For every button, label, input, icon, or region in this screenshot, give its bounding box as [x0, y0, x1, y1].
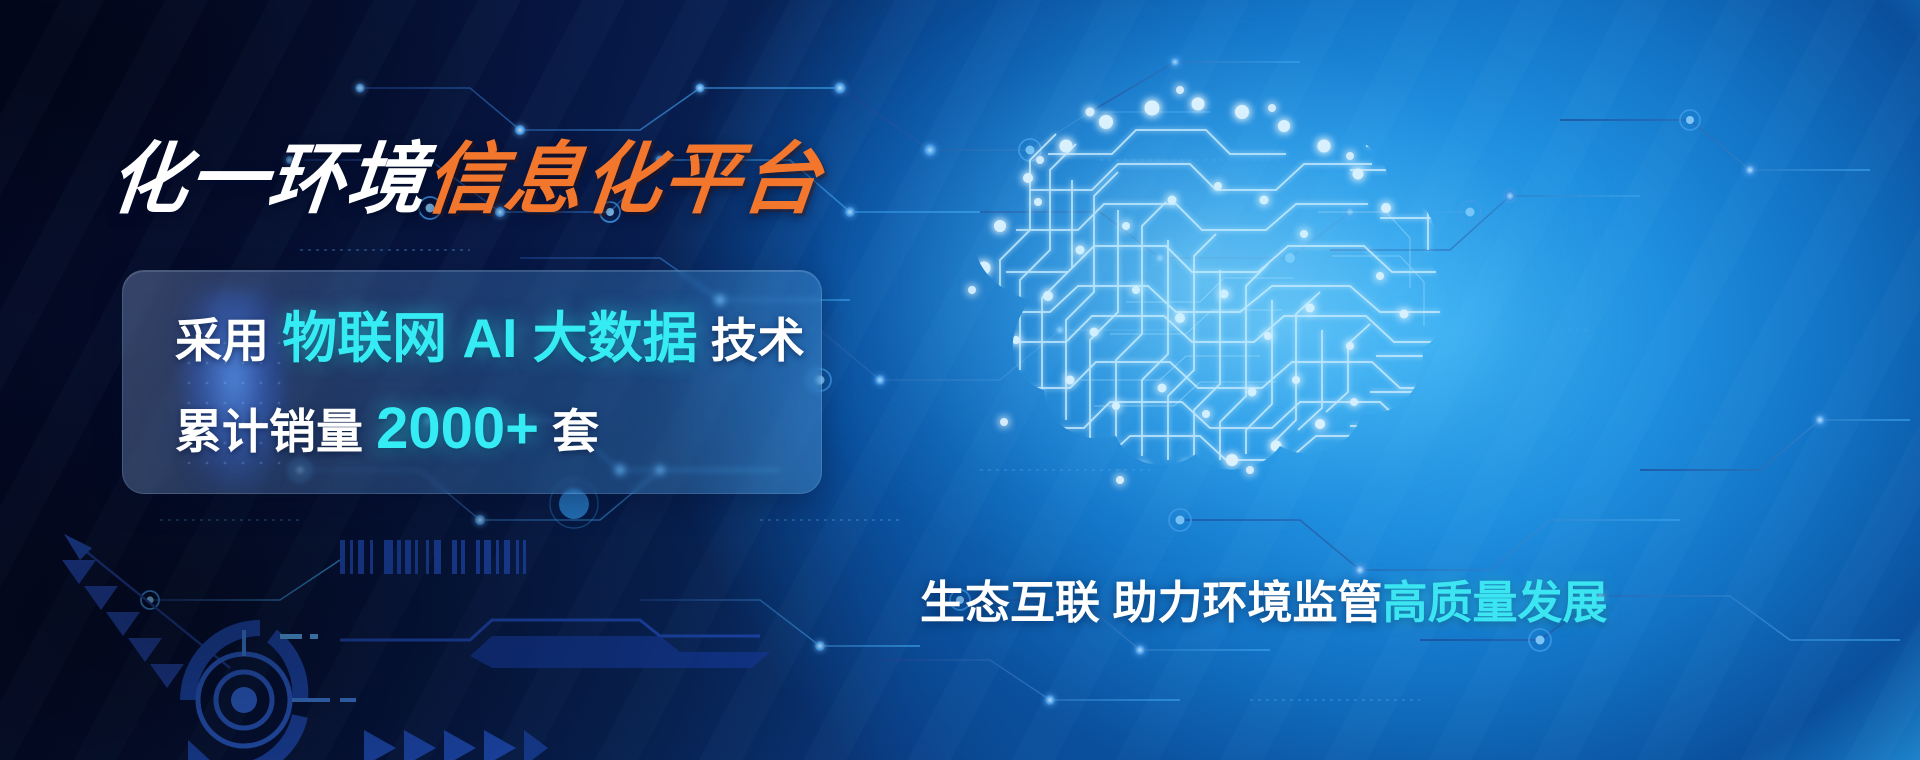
tagline: 生态互联 助力环境监管高质量发展 — [920, 580, 1480, 625]
sales-tail-text: 套 — [539, 405, 599, 458]
feature-card-body: 采用 物联网 AI 大数据 技术 累计销量 2000+ 套 — [123, 271, 821, 493]
feature-line-sales: 累计销量 2000+ 套 — [175, 400, 821, 458]
tagline-lead-text: 生态互联 助力环境监管 — [920, 577, 1383, 628]
tech-highlight-text: 物联网 AI 大数据 — [282, 307, 698, 369]
sales-count-text: 2000+ — [376, 396, 539, 461]
banner-root: 化一环境信息化平台 采用 物联网 AI 大数据 — [0, 0, 1920, 760]
page-title: 化一环境信息化平台 — [106, 140, 825, 218]
tech-lead-text: 采用 — [175, 314, 282, 367]
feature-line-technology: 采用 物联网 AI 大数据 技术 — [175, 311, 821, 366]
title-primary: 化一环境 — [105, 135, 430, 223]
tech-tail-text: 技术 — [698, 314, 805, 367]
feature-card: 采用 物联网 AI 大数据 技术 累计销量 2000+ 套 — [122, 270, 822, 494]
tagline-highlight-text: 高质量发展 — [1383, 577, 1608, 628]
title-accent: 信息化平台 — [421, 135, 825, 223]
sales-lead-text: 累计销量 — [175, 405, 376, 458]
